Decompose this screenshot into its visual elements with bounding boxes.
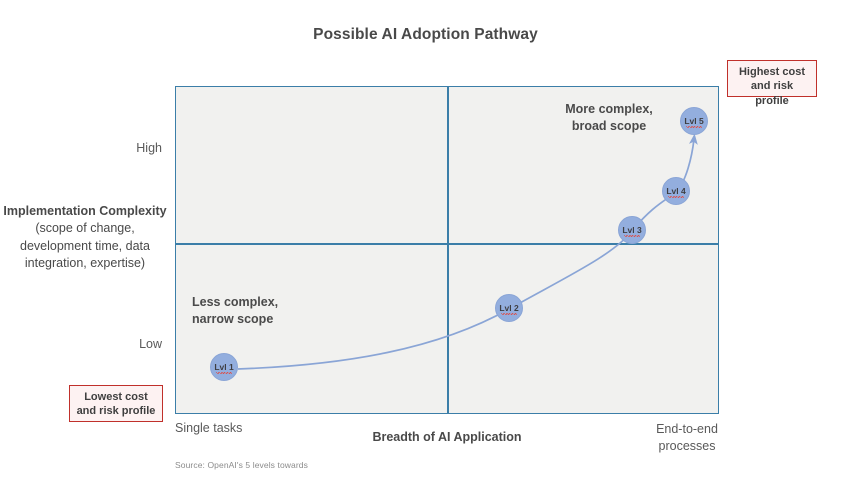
y-axis-title-sub: (scope of change, development time, data… (0, 220, 170, 272)
data-point-lvl-5[interactable]: Lvl 5 (680, 107, 708, 135)
data-point-label: Lvl 4 (666, 187, 685, 196)
data-point-lvl-1[interactable]: Lvl 1 (210, 353, 238, 381)
y-axis-title-main: Implementation Complexity (0, 203, 170, 220)
chart-canvas: Possible AI Adoption Pathway More comple… (0, 0, 851, 479)
y-axis-tick-low: Low (76, 337, 162, 351)
data-point-label: Lvl 3 (622, 226, 641, 235)
data-point-label: Lvl 1 (214, 363, 233, 372)
x-axis-tick-end: End-to-end processes (612, 421, 762, 455)
callout-lowest-cost: Lowest cost and risk profile (69, 385, 163, 422)
x-axis-title: Breadth of AI Application (275, 430, 619, 444)
page-title: Possible AI Adoption Pathway (0, 26, 851, 44)
y-axis-tick-high: High (76, 141, 162, 155)
data-point-lvl-3[interactable]: Lvl 3 (618, 216, 646, 244)
data-point-lvl-4[interactable]: Lvl 4 (662, 177, 690, 205)
data-point-label: Lvl 5 (684, 117, 703, 126)
x-axis-tick-start: Single tasks (175, 421, 242, 435)
data-point-layer: Lvl 1 Lvl 2 Lvl 3 Lvl 4 Lvl 5 (176, 87, 720, 415)
data-point-lvl-2[interactable]: Lvl 2 (495, 294, 523, 322)
plot-area: More complex, broad scope Less complex, … (175, 86, 719, 414)
y-axis-title: Implementation Complexity (scope of chan… (0, 203, 170, 272)
source-note: Source: OpenAI's 5 levels towards (175, 460, 308, 470)
callout-highest-cost: Highest cost and risk profile (727, 60, 817, 97)
data-point-label: Lvl 2 (499, 304, 518, 313)
